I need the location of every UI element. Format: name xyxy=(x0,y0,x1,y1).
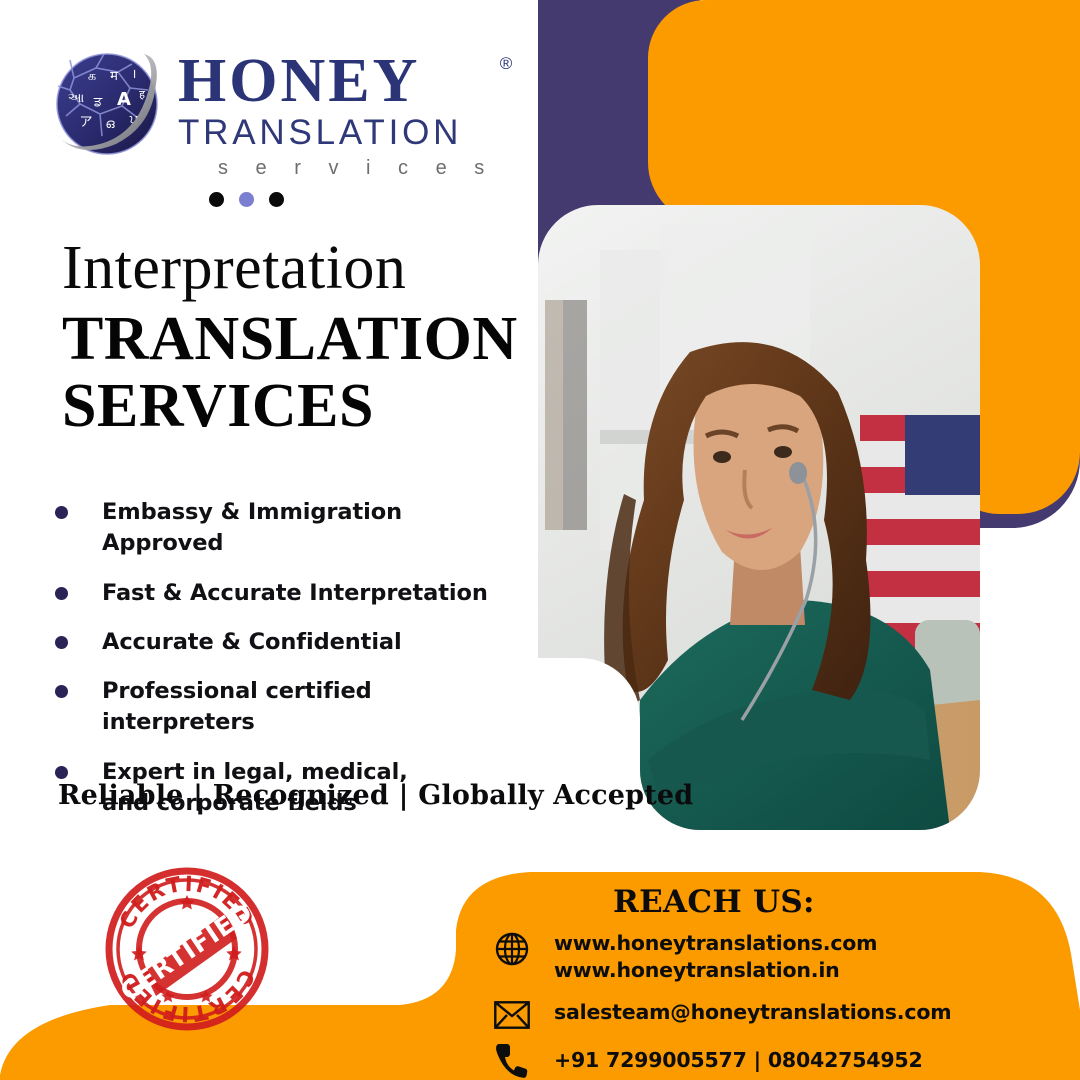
bullet-dot-icon xyxy=(55,636,68,649)
divider-dot-1 xyxy=(209,192,224,207)
logo-services-text: s e r v i c e s xyxy=(178,157,495,180)
poster-canvas: க म । આ ਡ A ह ア ഒ ਪ xyxy=(0,0,1080,1080)
bullet-dot-icon xyxy=(55,506,68,519)
feature-text: Embassy & Immigration Approved xyxy=(102,497,525,560)
registered-trademark-icon: ® xyxy=(500,54,513,74)
email-line-1: salesteam@honeytranslations.com xyxy=(554,999,951,1026)
contact-row-phone[interactable]: +91 7299005577 | 08042754952 xyxy=(492,1041,1052,1078)
phone-icon xyxy=(492,1041,532,1078)
bullet-dot-icon xyxy=(55,766,68,779)
website-line-2: www.honeytranslation.in xyxy=(554,957,877,984)
feature-item: Fast & Accurate Interpretation xyxy=(55,578,525,609)
phone-line-1: +91 7299005577 | 08042754952 xyxy=(554,1047,923,1074)
website-text: www.honeytranslations.com www.honeytrans… xyxy=(554,928,877,985)
contact-heading: REACH US: xyxy=(613,884,815,920)
feature-item: Embassy & Immigration Approved xyxy=(55,497,525,560)
headline-bold-line-1: TRANSLATION xyxy=(62,306,518,373)
feature-text: Fast & Accurate Interpretation xyxy=(102,578,488,609)
svg-text:CERTIFIED: CERTIFIED xyxy=(115,872,260,932)
logo-honey-text: HONEY xyxy=(178,52,495,112)
phone-text: +91 7299005577 | 08042754952 xyxy=(554,1041,923,1074)
brand-logo[interactable]: HONEY ® TRANSLATION s e r v i c e s xyxy=(52,48,495,180)
logo-translation-text: TRANSLATION xyxy=(178,114,495,153)
website-line-1: www.honeytranslations.com xyxy=(554,930,877,957)
feature-text: Accurate & Confidential xyxy=(102,627,402,658)
svg-text:CERTIFIED: CERTIFIED xyxy=(115,966,260,1026)
certified-stamp-icon: CERTIFIED CERTIFIED CERTIFIED xyxy=(109,871,265,1027)
contact-row-email[interactable]: salesteam@honeytranslations.com xyxy=(492,997,1052,1029)
feature-list: Embassy & Immigration Approved Fast & Ac… xyxy=(55,497,525,819)
purple-diagonal-band xyxy=(538,0,1080,528)
headline-script: Interpretation xyxy=(62,237,406,299)
bullet-dot-icon xyxy=(55,587,68,600)
tagline: Reliable | Recognized | Globally Accepte… xyxy=(58,780,693,811)
globe-icon xyxy=(492,928,532,967)
headline-bold: TRANSLATION SERVICES xyxy=(62,306,518,440)
svg-text:CERTIFIED: CERTIFIED xyxy=(115,897,258,1007)
hero-photo xyxy=(538,205,980,830)
envelope-icon xyxy=(492,997,532,1029)
divider-dot-2 xyxy=(239,192,254,207)
orange-top-block xyxy=(648,0,1080,514)
contact-row-website[interactable]: www.honeytranslations.com www.honeytrans… xyxy=(492,928,1052,985)
feature-item: Professional certified interpreters xyxy=(55,676,525,739)
headline-bold-line-2: SERVICES xyxy=(62,373,518,440)
divider-dots xyxy=(209,192,284,207)
contact-list: www.honeytranslations.com www.honeytrans… xyxy=(492,928,1052,1078)
feature-text: Professional certified interpreters xyxy=(102,676,525,739)
feature-item: Accurate & Confidential xyxy=(55,627,525,658)
email-text: salesteam@honeytranslations.com xyxy=(554,997,951,1026)
bullet-dot-icon xyxy=(55,685,68,698)
divider-dot-3 xyxy=(269,192,284,207)
